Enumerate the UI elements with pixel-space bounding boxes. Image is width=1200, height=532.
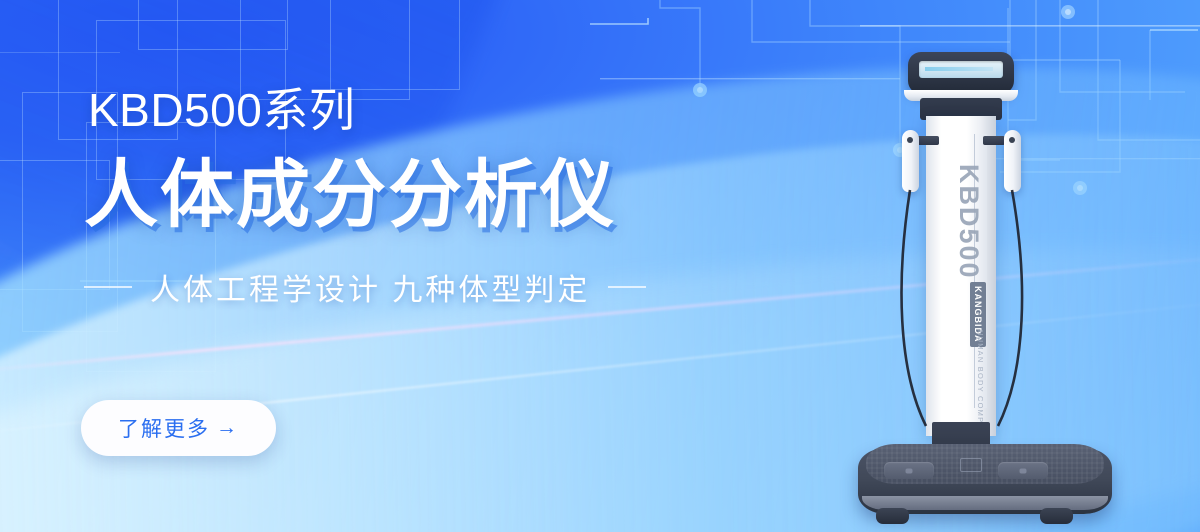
device-platform-center-mark [960,458,982,472]
product-banner: KBD500系列 人体成分分析仪 人体工程学设计 九种体型判定 了解更多 → K… [0,0,1200,532]
device-leveling-foot-right [1040,508,1073,524]
product-series-kicker: KBD500系列 [88,74,355,140]
page-title: 人体成分分析仪 [84,135,616,242]
device-foot-electrode-right [998,462,1048,479]
device-foot-electrode-left [884,462,934,479]
device-leveling-foot-left [876,508,909,524]
banner-content: KBD500系列 人体成分分析仪 人体工程学设计 九种体型判定 了解更多 → [84,0,724,532]
arrow-right-icon: → [216,416,239,440]
learn-more-label: 了解更多 [118,413,210,443]
subtitle-text: 人体工程学设计 九种体型判定 [150,265,590,309]
product-image-analyzer: KBD500 KANGBIDA HUMAN BODY COMPOSITION A… [840,40,1130,520]
ribbon-3 [0,120,57,532]
dash-left-icon [84,286,132,288]
dash-right-icon [608,286,646,288]
ribbon-4 [0,200,14,532]
subtitle-row: 人体工程学设计 九种体型判定 [84,265,646,309]
learn-more-button[interactable]: 了解更多 → [81,400,276,456]
